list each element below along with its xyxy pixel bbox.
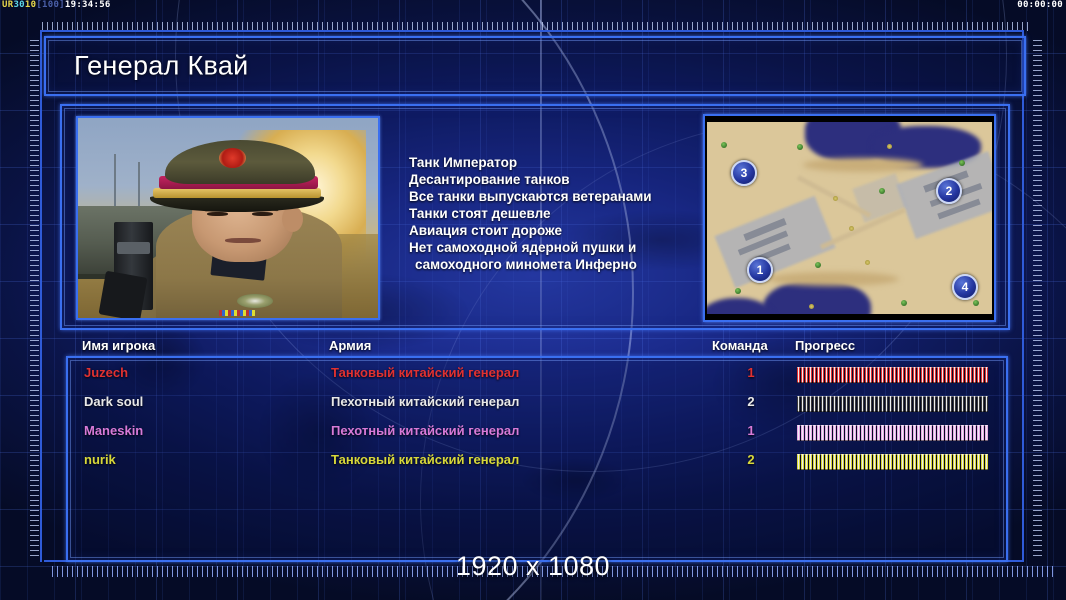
map-tree (879, 188, 885, 194)
resolution-label: 1920 x 1080 (0, 551, 1066, 582)
player-name: Maneskin (84, 423, 143, 438)
status-clock: 19:34:56 (65, 0, 111, 10)
title-panel: Генерал Квай (44, 36, 1026, 96)
player-army: Пехотный китайский генерал (331, 423, 519, 438)
status-bracket-value: [100] (36, 0, 65, 10)
general-portrait (76, 116, 380, 320)
map-resource (849, 226, 854, 231)
map-tree (901, 300, 907, 306)
column-header-army: Армия (329, 338, 371, 353)
table-row[interactable]: Juzech Танковый китайский генерал 1 (68, 362, 1006, 386)
debug-status-right: 00:00:00 (1017, 0, 1063, 10)
map-tree (797, 144, 803, 150)
player-team: 2 (744, 452, 758, 467)
table-row[interactable]: Maneskin Пехотный китайский генерал 1 (68, 420, 1006, 444)
map-tree (721, 142, 727, 148)
player-table-panel: Juzech Танковый китайский генерал 1 Dark… (66, 356, 1008, 562)
player-progress-bar (797, 454, 988, 470)
player-name: Juzech (84, 365, 128, 380)
debug-status-left: UR3010[100]19:34:56 (2, 0, 111, 10)
frame-line-right (1022, 30, 1024, 562)
map-resource (809, 304, 814, 309)
map-tree (973, 300, 979, 306)
map-start-position[interactable]: 2 (936, 178, 962, 204)
ability-item: Нет самоходной ядерной пушки и (409, 239, 652, 256)
frame-line-top (40, 30, 1024, 32)
player-army: Пехотный китайский генерал (331, 394, 519, 409)
map-resource (833, 196, 838, 201)
player-name: Dark soul (84, 394, 143, 409)
match-timer: 00:00:00 (1017, 0, 1063, 10)
map-tree (815, 262, 821, 268)
portrait-mouth (225, 238, 261, 243)
status-ur-label: UR (2, 0, 13, 10)
column-header-progress: Прогресс (795, 338, 855, 353)
page-title: Генерал Квай (74, 51, 249, 82)
ability-item: Все танки выпускаются ветеранами (409, 188, 652, 205)
player-team: 2 (744, 394, 758, 409)
player-army: Танковый китайский генерал (331, 365, 519, 380)
player-progress-bar (797, 425, 988, 441)
portrait-cap-gold-braid (153, 188, 321, 198)
map-start-position[interactable]: 3 (731, 160, 757, 186)
portrait-cap-emblem (219, 148, 246, 168)
map-shoreline (803, 158, 923, 172)
status-value-1: 30 (13, 0, 24, 10)
player-team: 1 (744, 365, 758, 380)
general-info-panel: Танк Император Десантирование танков Все… (60, 104, 1010, 330)
player-team: 1 (744, 423, 758, 438)
minimap-terrain: 3 2 1 4 (707, 122, 992, 314)
player-army: Танковый китайский генерал (331, 452, 519, 467)
player-progress-bar (797, 367, 988, 383)
ability-item: Танк Император (409, 154, 652, 171)
map-resource (865, 260, 870, 265)
ability-item: самоходного миномета Инферно (409, 256, 652, 273)
minimap[interactable]: 3 2 1 4 (703, 114, 996, 322)
map-start-position[interactable]: 4 (952, 274, 978, 300)
general-abilities-list: Танк Император Десантирование танков Все… (409, 154, 652, 273)
map-resource (887, 144, 892, 149)
table-row[interactable]: Dark soul Пехотный китайский генерал 2 (68, 391, 1006, 415)
frame-ruler-right (1033, 40, 1042, 560)
ability-item: Авиация стоит дороже (409, 222, 652, 239)
map-shoreline (769, 272, 899, 286)
map-tree (959, 160, 965, 166)
ability-item: Танки стоят дешевле (409, 205, 652, 222)
portrait-pistol-grip (98, 271, 147, 320)
map-start-position[interactable]: 1 (747, 257, 773, 283)
player-name: nurik (84, 452, 116, 467)
frame-ruler-left (30, 40, 39, 560)
column-header-team: Команда (712, 338, 768, 353)
frame-line-left (40, 30, 42, 562)
ability-item: Десантирование танков (409, 171, 652, 188)
game-lobby-screen: UR3010[100]19:34:56 00:00:00 Генерал Ква… (0, 0, 1066, 600)
map-urban-area (852, 173, 908, 223)
column-header-name: Имя игрока (82, 338, 155, 353)
portrait-wing-badge (237, 294, 273, 308)
status-value-2: 10 (25, 0, 36, 10)
portrait-pistol-slide (117, 242, 150, 254)
portrait-medal-ribbon (219, 310, 255, 316)
portrait-ear (282, 206, 303, 232)
player-table-header: Имя игрока Армия Команда Прогресс (66, 338, 1004, 356)
map-tree (735, 288, 741, 294)
table-row[interactable]: nurik Танковый китайский генерал 2 (68, 449, 1006, 473)
player-progress-bar (797, 396, 988, 412)
